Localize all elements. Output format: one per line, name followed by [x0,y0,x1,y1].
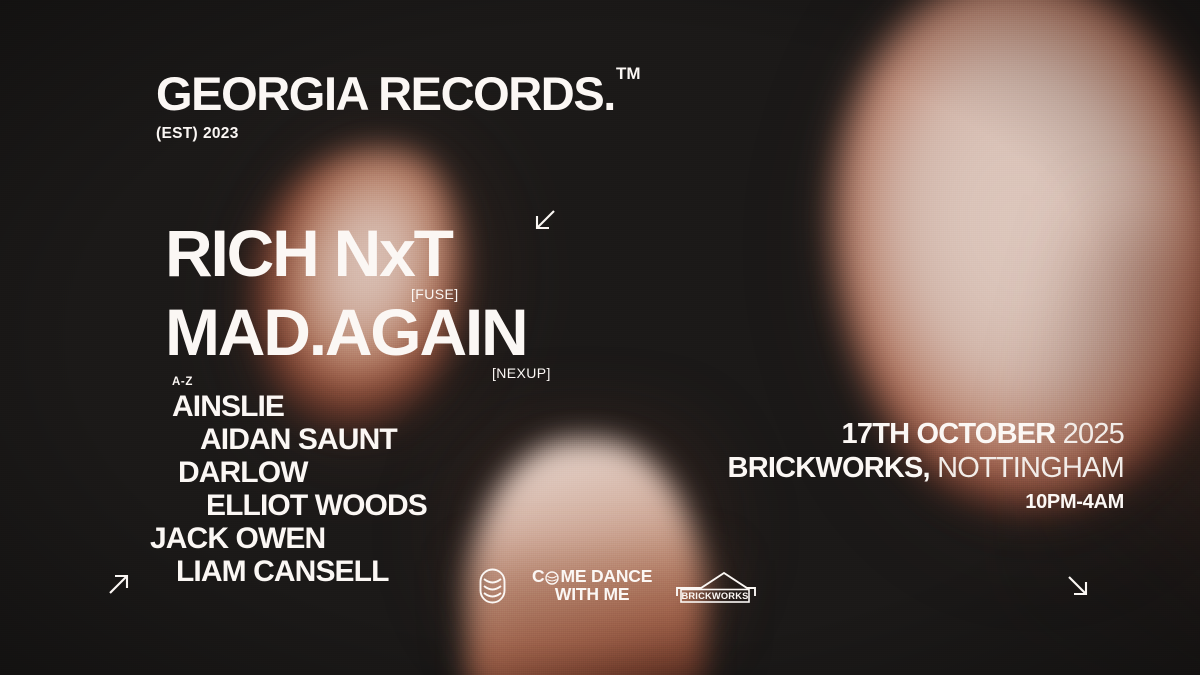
event-year: 2025 [1063,418,1124,450]
brand-established: (EST)2023 [156,125,640,143]
headliner-name-2: MAD.AGAIN [165,295,527,369]
headliner-row-1: RICH NxT [FUSE] [165,222,527,285]
lineup-artist: AINSLIE [172,390,427,423]
cdwm-line1-before: C [532,568,544,586]
headline-artists: RICH NxT [FUSE] MAD.AGAIN [NEXUP] [165,222,527,365]
event-details: 17TH OCTOBER 2025 BRICKWORKS, NOTTINGHAM… [728,418,1124,513]
headliner-name-1: RICH NxT [165,216,452,290]
event-poster: GEORGIA RECORDS.TM (EST)2023 RICH NxT [F… [0,0,1200,675]
lineup-list: A-Z AINSLIE AIDAN SAUNT DARLOW ELLIOT WO… [150,376,427,588]
event-city: NOTTINGHAM [937,452,1124,484]
brand-title-text: GEORGIA RECORDS. [156,67,615,120]
lineup-artist: LIAM CANSELL [176,555,427,588]
georgia-records-emblem-icon [476,566,509,606]
lineup-artist: ELLIOT WOODS [206,489,427,522]
poster-content: GEORGIA RECORDS.TM (EST)2023 RICH NxT [F… [0,0,1200,675]
lineup-artist: JACK OWEN [150,522,427,555]
arrow-down-left-icon [530,205,560,235]
lineup-artist: AIDAN SAUNT [200,423,427,456]
brickworks-logo-icon: BRICKWORKS [675,566,757,606]
partner-logos: C ME DANCE WITH ME BRICKWORKS [476,566,757,606]
come-dance-with-me-logo: C ME DANCE WITH ME [532,568,652,604]
headliner-row-2: MAD.AGAIN [NEXUP] [165,301,527,364]
brand-lockup: GEORGIA RECORDS.TM (EST)2023 [156,70,640,143]
established-label: (EST) [156,125,198,142]
established-year: 2023 [203,125,239,142]
brand-title: GEORGIA RECORDS.TM [156,70,640,117]
event-date: 17TH OCTOBER [842,418,1056,450]
brickworks-label: BRICKWORKS [682,591,749,601]
lineup-az-label: A-Z [172,376,427,388]
arrow-up-right-icon [104,569,134,599]
cdwm-line-2: WITH ME [532,586,652,604]
arrow-down-right-icon [1063,571,1093,601]
event-time: 10PM-4AM [728,491,1124,513]
cdwm-circle-emblem-icon [545,571,559,585]
trademark-symbol: TM [616,64,641,83]
event-venue-line: BRICKWORKS, NOTTINGHAM [728,452,1124,484]
lineup-artist: DARLOW [178,456,427,489]
headliner-tag-2: [NEXUP] [492,367,551,380]
event-date-line: 17TH OCTOBER 2025 [728,418,1124,450]
event-venue: BRICKWORKS, [728,452,930,484]
